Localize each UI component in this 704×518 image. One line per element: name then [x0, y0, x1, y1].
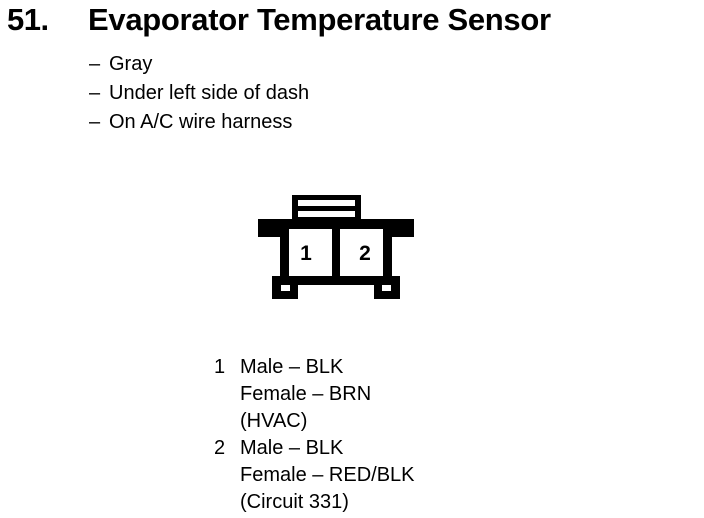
pin-legend-number: 1	[214, 354, 240, 381]
dash-icon: –	[89, 79, 109, 108]
pin-legend-male-wire: Male – BLK	[240, 435, 644, 462]
page-title: Evaporator Temperature Sensor	[88, 1, 551, 39]
dash-icon: –	[89, 108, 109, 137]
description-item-color: – Gray	[89, 50, 539, 79]
pin-legend: 1 Male – BLK Female – BRN (HVAC) 2 Male …	[214, 354, 644, 516]
description-item-harness: – On A/C wire harness	[89, 108, 539, 137]
pin-legend-number: 2	[214, 435, 240, 462]
description-item-label: On A/C wire harness	[109, 108, 292, 137]
description-item-location: – Under left side of dash	[89, 79, 539, 108]
connector-pin-label-1: 1	[300, 242, 312, 265]
pin-legend-group-1: 1 Male – BLK Female – BRN (HVAC)	[214, 354, 644, 435]
page-number: 51.	[7, 1, 49, 39]
pin-legend-group-2: 2 Male – BLK Female – RED/BLK (Circuit 3…	[214, 435, 644, 516]
connector-outline-svg: 1 2	[250, 188, 422, 306]
connector-diagram: 1 2	[250, 188, 422, 306]
pin-legend-lines: Male – BLK Female – RED/BLK (Circuit 331…	[240, 435, 644, 516]
connector-latch-tab	[292, 195, 361, 221]
pin-legend-circuit-note: (HVAC)	[240, 408, 644, 435]
connector-body	[258, 219, 414, 299]
pin-legend-circuit-note: (Circuit 331)	[240, 489, 644, 516]
dash-icon: –	[89, 50, 109, 79]
description-item-label: Under left side of dash	[109, 79, 309, 108]
page-header: 51. Evaporator Temperature Sensor	[0, 0, 704, 42]
pin-legend-lines: Male – BLK Female – BRN (HVAC)	[240, 354, 644, 435]
pin-legend-male-wire: Male – BLK	[240, 354, 644, 381]
connector-pin-label-2: 2	[359, 242, 371, 265]
pin-legend-female-wire: Female – BRN	[240, 381, 644, 408]
pin-legend-female-wire: Female – RED/BLK	[240, 462, 644, 489]
description-item-label: Gray	[109, 50, 152, 79]
description-list: – Gray – Under left side of dash – On A/…	[89, 50, 539, 137]
